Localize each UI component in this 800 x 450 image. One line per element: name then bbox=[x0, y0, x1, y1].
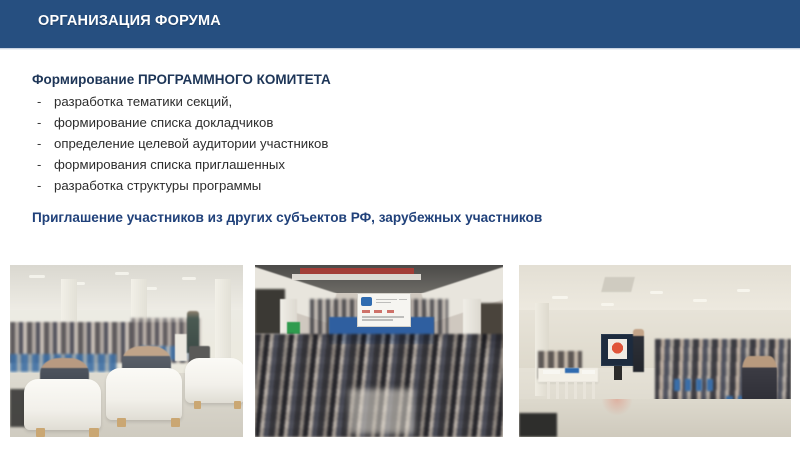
photo-atrium-crowd bbox=[255, 265, 503, 437]
photo-strip bbox=[0, 265, 800, 437]
bullet-dash-icon: - bbox=[32, 178, 54, 193]
photo-seminar-room bbox=[519, 265, 791, 437]
list-item-label: разработка тематики секций, bbox=[54, 94, 232, 109]
list-item: - разработка структуры программы bbox=[32, 178, 552, 199]
bullet-dash-icon: - bbox=[32, 136, 54, 151]
list-item-label: разработка структуры программы bbox=[54, 178, 261, 193]
bullet-list: - разработка тематики секций, - формиров… bbox=[32, 94, 552, 199]
photo-conference-hall bbox=[10, 265, 243, 437]
list-item: - определение целевой аудитории участник… bbox=[32, 136, 552, 157]
header-divider bbox=[0, 48, 800, 50]
section-heading: Формирование ПРОГРАММНОГО КОМИТЕТА bbox=[32, 72, 331, 87]
slide-header-bar: ОРГАНИЗАЦИЯ ФОРУМА bbox=[0, 0, 800, 48]
bullet-dash-icon: - bbox=[32, 94, 54, 109]
subtitle-line: Приглашение участников из других субъект… bbox=[32, 210, 542, 225]
list-item: - формирования списка приглашенных bbox=[32, 157, 552, 178]
list-item-label: формирования списка приглашенных bbox=[54, 157, 285, 172]
list-item: - формирование списка докладчиков bbox=[32, 115, 552, 136]
bullet-dash-icon: - bbox=[32, 115, 54, 130]
bullet-dash-icon: - bbox=[32, 157, 54, 172]
page-title: ОРГАНИЗАЦИЯ ФОРУМА bbox=[38, 13, 221, 29]
list-item-label: формирование списка докладчиков bbox=[54, 115, 273, 130]
list-item-label: определение целевой аудитории участников bbox=[54, 136, 328, 151]
list-item: - разработка тематики секций, bbox=[32, 94, 552, 115]
